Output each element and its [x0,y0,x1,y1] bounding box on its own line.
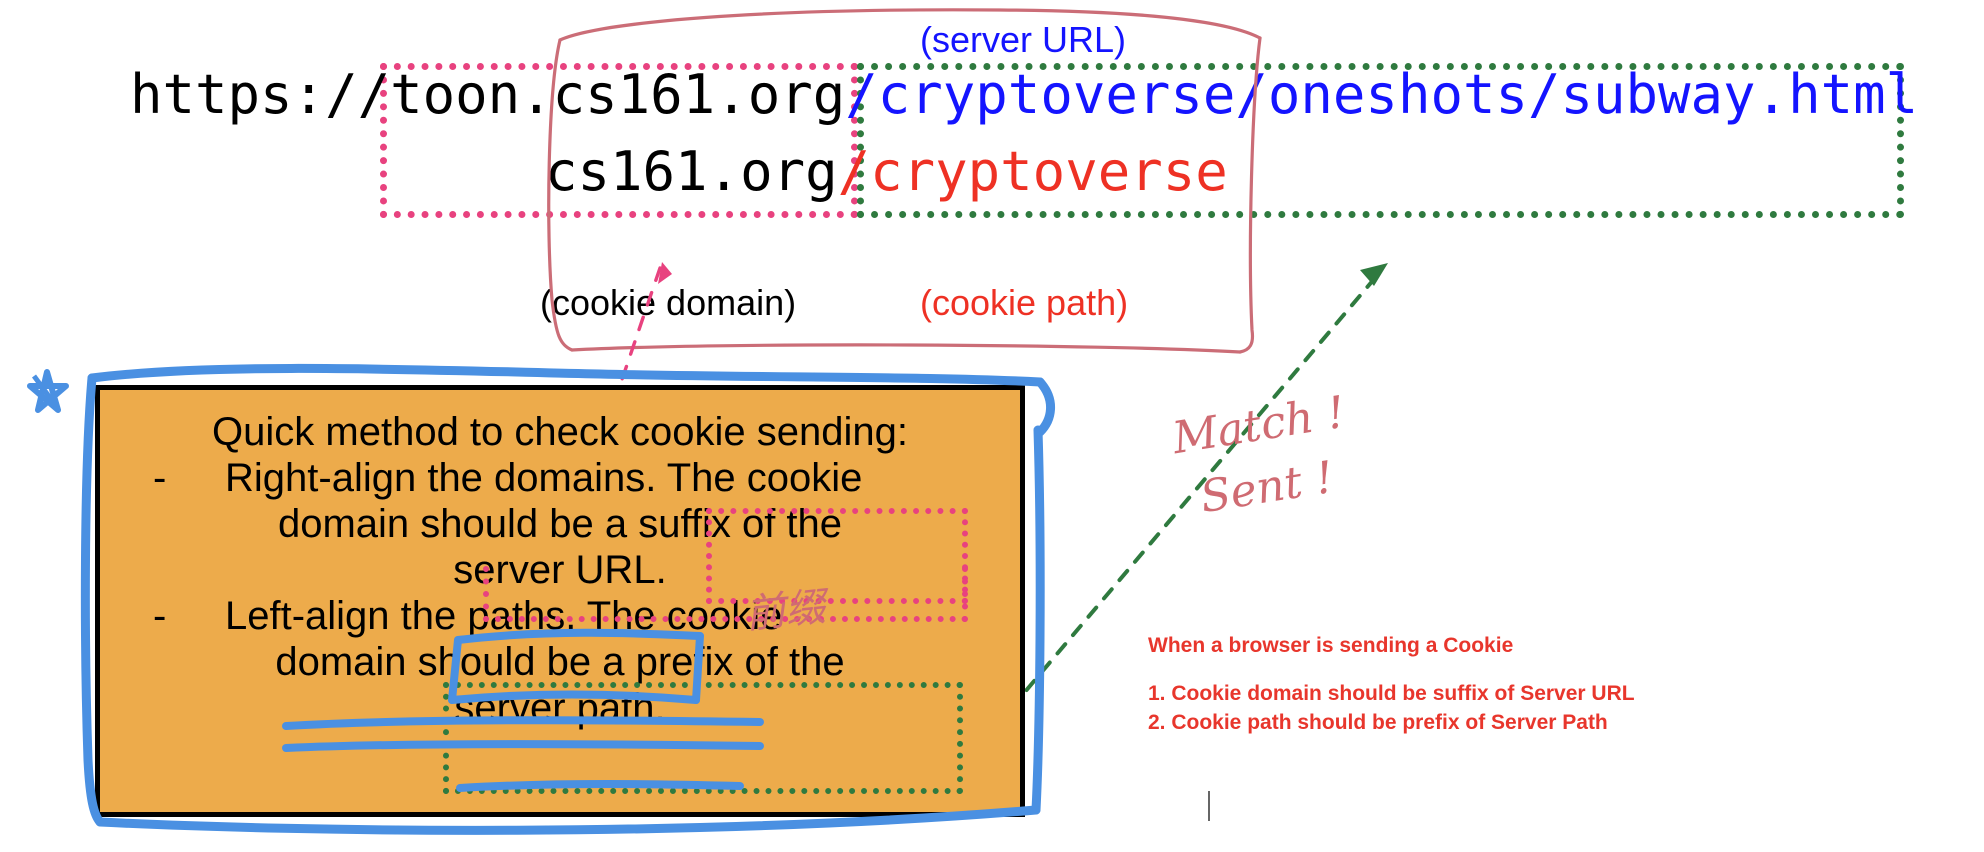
handwritten-sent: Sent ! [1197,452,1337,523]
bullet-dash-2: - [153,593,225,639]
red-bracket-bottom [572,345,1240,352]
cookie-path-text: cryptoverse [870,140,1228,203]
server-url-host: https://toon.cs161.org [130,63,845,126]
suffix-highlight-box-2 [483,566,968,622]
server-url-path: cryptoverse/oneshots/subway.html [878,63,1918,126]
red-notes-line-1: 1. Cookie domain should be suffix of Ser… [1148,680,1635,708]
handwritten-cn-prefix: 前缀 [742,574,828,640]
note-title: Quick method to check cookie sending: [123,409,997,455]
blue-star-icon [30,372,66,410]
red-notes-header: When a browser is sending a Cookie [1148,632,1635,660]
blue-box-top [92,368,1040,382]
bullet-dash-1: - [153,455,225,501]
note-b2-l2-text: domain should be a prefix of the [123,639,997,685]
cookie-url-line: cs161.org/cryptoverse [545,145,1228,199]
cookie-path-label: (cookie path) [920,285,1128,321]
server-url-slash: / [845,63,878,126]
note-bullet-1-line-1: -Right-align the domains. The cookie [123,455,997,501]
green-arrow-head [1360,263,1388,286]
server-url-line: https://toon.cs161.org/cryptoverse/onesh… [130,68,1918,122]
red-bracket-top [560,10,1260,40]
cookie-path-slash: / [838,140,871,203]
prefix-highlight-box [443,682,963,794]
note-b1-l1-text: Right-align the domains. The cookie [225,456,862,500]
blue-box-right [1036,430,1040,810]
red-notes-line-2: 2. Cookie path should be prefix of Serve… [1148,709,1635,737]
text-caret[interactable] [1208,791,1210,821]
red-summary-notes: When a browser is sending a Cookie 1. Co… [1148,632,1635,737]
blue-box-right-hook [1040,382,1051,432]
slide-canvas: https://toon.cs161.org/cryptoverse/onesh… [0,0,1984,852]
blue-star-slash [34,376,56,406]
pink-leader-arrowhead [658,262,672,284]
cookie-domain-label: (cookie domain) [540,285,796,321]
server-url-label: (server URL) [920,22,1126,58]
cookie-domain-text: cs161.org [545,140,838,203]
